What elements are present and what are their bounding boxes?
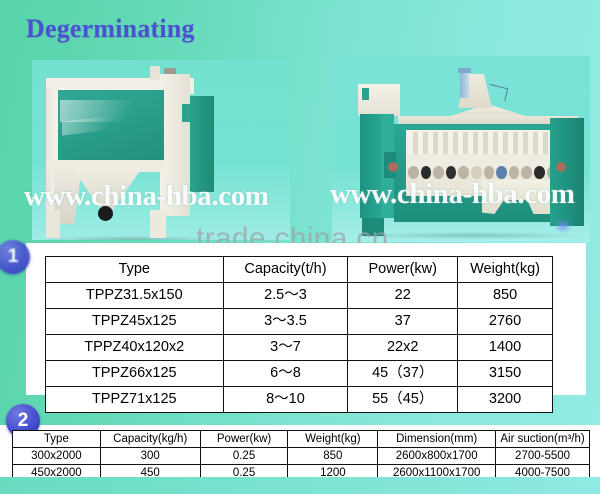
product-photo-right — [332, 56, 590, 242]
cell-power: 0.25 — [200, 448, 288, 465]
cell-power: 22 — [348, 283, 458, 309]
watermark-site-right: www.china-hba.com — [330, 178, 575, 211]
machine-bearing-left — [388, 162, 398, 172]
table-row: TPPZ31.5x150 2.5～3 22 850 — [46, 283, 553, 309]
cell-capacity: 3～7 — [223, 335, 348, 361]
machine-lens-glow — [554, 218, 572, 234]
cell-type: TPPZ31.5x150 — [46, 283, 224, 309]
cell-power: 22x2 — [348, 335, 458, 361]
cell-dimension: 2600x800x1700 — [378, 448, 496, 465]
machine-shadow — [358, 232, 584, 239]
machine-motor-housing — [190, 96, 214, 192]
column-header-type: Type — [13, 431, 101, 448]
column-header-air-suction: Air suction(m³/h) — [496, 431, 590, 448]
column-header-power: Power(kw) — [348, 257, 458, 283]
machine-leg-left — [46, 210, 60, 238]
cell-power: 45（37） — [348, 361, 458, 387]
cell-type: TPPZ40x120x2 — [46, 335, 224, 361]
machine-fin-row — [408, 132, 570, 154]
bottom-background-strip — [0, 477, 600, 494]
cell-capacity: 3～3.5 — [223, 309, 348, 335]
table-row: TPPZ71x125 8～10 55（45） 3200 — [46, 387, 553, 413]
column-header-capacity: Capacity(kg/h) — [100, 431, 200, 448]
column-header-dimension: Dimension(mm) — [378, 431, 496, 448]
machine-stack — [150, 66, 160, 80]
cell-capacity: 6～8 — [223, 361, 348, 387]
page-title: Degerminating — [26, 14, 195, 44]
cell-type: 300x2000 — [13, 448, 101, 465]
cell-capacity: 8～10 — [223, 387, 348, 413]
product-photo-left — [32, 60, 290, 240]
watermark-site-left: www.china-hba.com — [24, 180, 269, 213]
machine-shadow — [42, 236, 222, 240]
machine-inlet-slot — [362, 88, 369, 100]
machine-vent-pipe — [460, 70, 469, 98]
cell-weight: 3200 — [458, 387, 553, 413]
cell-air-suction: 2700-5500 — [496, 448, 590, 465]
cell-capacity: 2.5～3 — [223, 283, 348, 309]
spec-table-1: Type Capacity(t/h) Power(kw) Weight(kg) … — [45, 256, 553, 413]
column-header-capacity: Capacity(t/h) — [223, 257, 348, 283]
cell-type: TPPZ71x125 — [46, 387, 224, 413]
cell-weight: 850 — [288, 448, 378, 465]
table-row: TPPZ45x125 3～3.5 37 2760 — [46, 309, 553, 335]
spec-table-2: Type Capacity(kg/h) Power(kw) Weight(kg)… — [12, 430, 590, 482]
cell-weight: 850 — [458, 283, 553, 309]
table-row: 300x2000 300 0.25 850 2600x800x1700 2700… — [13, 448, 590, 465]
product-photo-band: www.china-hba.com www.china-hba.com — [0, 56, 600, 246]
machine-vent-pipe-top — [458, 68, 471, 73]
table-row: TPPZ66x125 6～8 45（37） 3150 — [46, 361, 553, 387]
column-header-weight: Weight(kg) — [458, 257, 553, 283]
machine-bearing-right — [556, 162, 566, 172]
table-header-row: Type Capacity(t/h) Power(kw) Weight(kg) — [46, 257, 553, 283]
table-header-row: Type Capacity(kg/h) Power(kw) Weight(kg)… — [13, 431, 590, 448]
column-header-weight: Weight(kg) — [288, 431, 378, 448]
cell-weight: 3150 — [458, 361, 553, 387]
cell-weight: 1400 — [458, 335, 553, 361]
cell-capacity: 300 — [100, 448, 200, 465]
column-header-power: Power(kw) — [200, 431, 288, 448]
machine-leg-right — [150, 210, 166, 238]
cell-power: 55（45） — [348, 387, 458, 413]
cell-weight: 2760 — [458, 309, 553, 335]
cell-type: TPPZ45x125 — [46, 309, 224, 335]
cell-power: 37 — [348, 309, 458, 335]
cell-type: TPPZ66x125 — [46, 361, 224, 387]
column-header-type: Type — [46, 257, 224, 283]
table-row: TPPZ40x120x2 3～7 22x2 1400 — [46, 335, 553, 361]
